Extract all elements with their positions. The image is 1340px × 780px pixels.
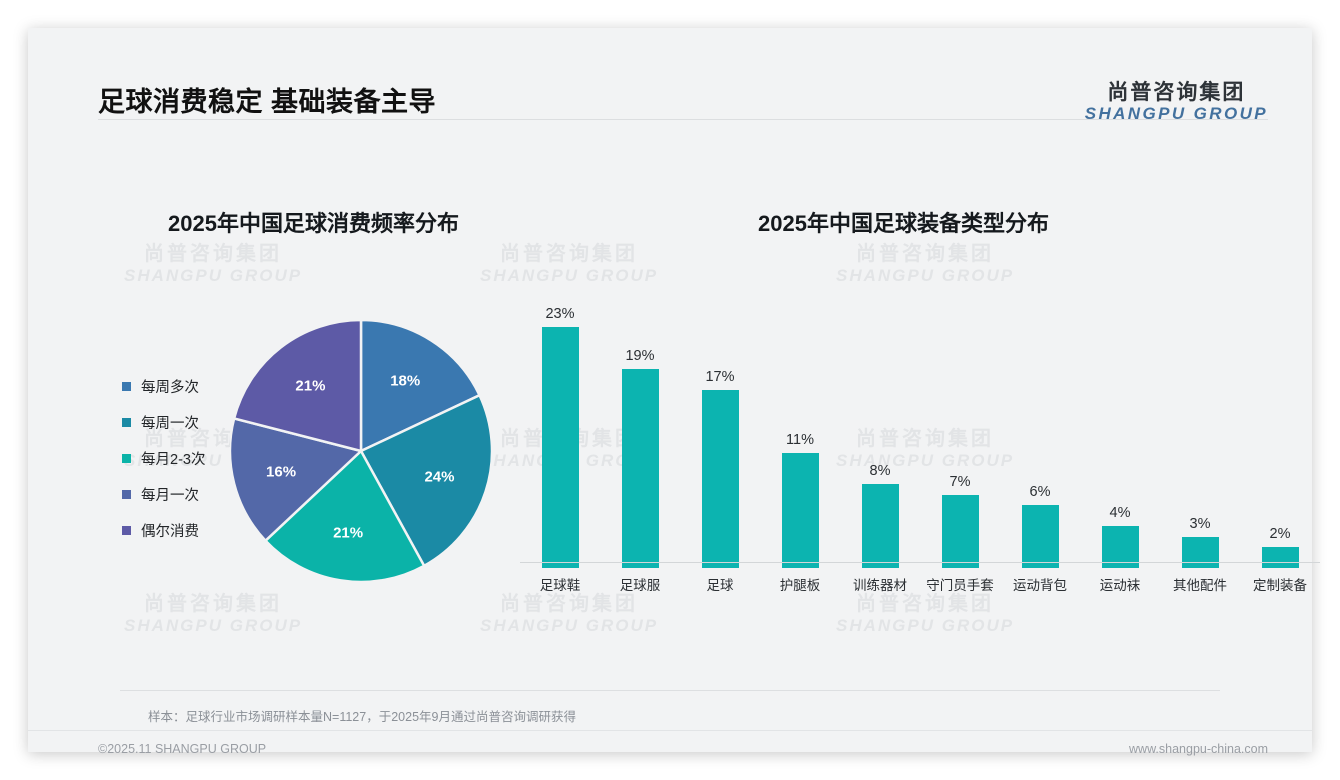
slide-header: 足球消费稳定 基础装备主导 尚普咨询集团 SHANGPU GROUP — [28, 28, 1312, 120]
legend-swatch-icon — [122, 418, 131, 427]
bar-rect[interactable] — [942, 495, 979, 568]
bar-value-label: 8% — [870, 463, 891, 479]
bar-value-label: 23% — [545, 306, 574, 322]
website-link[interactable]: www.shangpu-china.com — [1129, 742, 1268, 756]
watermark-cn: 尚普咨询集团 — [480, 593, 658, 616]
bar-value-label: 4% — [1110, 505, 1131, 521]
bar-column[interactable]: 8% — [840, 278, 920, 568]
slide-canvas: 尚普咨询集团 SHANGPU GROUP 尚普咨询集团 SHANGPU GROU… — [28, 28, 1312, 752]
bar-category-label: 足球 — [680, 574, 760, 594]
bar-column[interactable]: 4% — [1080, 278, 1160, 568]
copyright-text: ©2025.11 SHANGPU GROUP — [98, 742, 266, 756]
pie-slice-label: 21% — [295, 377, 325, 394]
bar-column[interactable]: 3% — [1160, 278, 1240, 568]
watermark-cn: 尚普咨询集团 — [836, 243, 1014, 266]
legend-item[interactable]: 偶尔消费 — [122, 512, 205, 548]
pie-slice-label: 18% — [390, 373, 420, 390]
legend-item[interactable]: 每月一次 — [122, 476, 205, 512]
watermark: 尚普咨询集团 SHANGPU GROUP — [124, 243, 302, 286]
header-divider — [98, 119, 1268, 120]
watermark-en: SHANGPU GROUP — [124, 266, 302, 286]
bar-column[interactable]: 6% — [1000, 278, 1080, 568]
bar-column[interactable]: 17% — [680, 278, 760, 568]
bar-rect[interactable] — [782, 453, 819, 568]
pie-chart-svg — [230, 320, 492, 582]
watermark-cn: 尚普咨询集团 — [480, 243, 658, 266]
legend-item[interactable]: 每月2-3次 — [122, 440, 205, 476]
watermark-en: SHANGPU GROUP — [124, 616, 302, 636]
pie-slice-label: 16% — [266, 463, 296, 480]
brand-name-cn: 尚普咨询集团 — [1085, 82, 1268, 104]
bar-value-label: 11% — [786, 432, 814, 448]
bar-value-label: 2% — [1270, 526, 1291, 542]
bar-rect[interactable] — [542, 327, 579, 568]
pie-chart-title: 2025年中国足球消费频率分布 — [168, 206, 459, 238]
watermark-cn: 尚普咨询集团 — [124, 593, 302, 616]
legend-label: 每月一次 — [141, 484, 199, 505]
bar-category-label: 其他配件 — [1160, 574, 1240, 594]
watermark-en: SHANGPU GROUP — [480, 616, 658, 636]
bar-chart-title: 2025年中国足球装备类型分布 — [758, 206, 1049, 238]
bar-value-label: 7% — [950, 474, 971, 490]
watermark-cn: 尚普咨询集团 — [124, 243, 302, 266]
legend-label: 偶尔消费 — [141, 520, 199, 541]
bar-rect[interactable] — [702, 390, 739, 568]
bar-rect[interactable] — [1182, 537, 1219, 568]
bar-value-label: 3% — [1190, 516, 1211, 532]
bar-category-label: 训练器材 — [840, 574, 920, 594]
pie-legend: 每周多次每周一次每月2-3次每月一次偶尔消费 — [122, 368, 205, 548]
legend-item[interactable]: 每周多次 — [122, 368, 205, 404]
bar-rect[interactable] — [622, 369, 659, 568]
footnote-divider — [120, 690, 1220, 691]
legend-item[interactable]: 每周一次 — [122, 404, 205, 440]
bar-rect[interactable] — [1022, 505, 1059, 568]
watermark: 尚普咨询集团 SHANGPU GROUP — [836, 593, 1014, 636]
watermark: 尚普咨询集团 SHANGPU GROUP — [124, 593, 302, 636]
bar-category-label: 足球服 — [600, 574, 680, 594]
bar-category-label: 护腿板 — [760, 574, 840, 594]
bar-category-label: 守门员手套 — [920, 574, 1000, 594]
bar-column[interactable]: 19% — [600, 278, 680, 568]
footer-divider — [28, 730, 1312, 731]
bar-category-label: 运动背包 — [1000, 574, 1080, 594]
legend-swatch-icon — [122, 454, 131, 463]
bar-column[interactable]: 2% — [1240, 278, 1320, 568]
page-title: 足球消费稳定 基础装备主导 — [98, 80, 436, 119]
watermark: 尚普咨询集团 SHANGPU GROUP — [480, 593, 658, 636]
watermark-en: SHANGPU GROUP — [836, 616, 1014, 636]
bar-category-label: 运动袜 — [1080, 574, 1160, 594]
bar-value-label: 6% — [1030, 484, 1051, 500]
bar-category-label: 定制装备 — [1240, 574, 1320, 594]
bar-value-label: 17% — [705, 369, 734, 385]
bar-chart-axis-line — [520, 562, 1320, 563]
legend-label: 每周一次 — [141, 412, 199, 433]
bar-rect[interactable] — [862, 484, 899, 568]
pie-chart: 18%24%21%16%21% — [230, 320, 492, 582]
pie-slice-label: 21% — [333, 524, 363, 541]
pie-slice-label: 24% — [424, 468, 454, 485]
legend-swatch-icon — [122, 382, 131, 391]
bar-chart: 23%19%17%11%8%7%6%4%3%2% — [520, 278, 1320, 568]
legend-label: 每周多次 — [141, 376, 199, 397]
watermark-cn: 尚普咨询集团 — [836, 593, 1014, 616]
brand-logo: 尚普咨询集团 SHANGPU GROUP — [1085, 82, 1268, 123]
bar-category-label: 足球鞋 — [520, 574, 600, 594]
bar-value-label: 19% — [625, 348, 654, 364]
bar-column[interactable]: 23% — [520, 278, 600, 568]
legend-label: 每月2-3次 — [141, 448, 205, 469]
bar-rect[interactable] — [1262, 547, 1299, 568]
footnote-text: 样本：足球行业市场调研样本量N=1127，于2025年9月通过尚普咨询调研获得 — [148, 706, 576, 725]
brand-name-en: SHANGPU GROUP — [1085, 105, 1268, 123]
legend-swatch-icon — [122, 526, 131, 535]
legend-swatch-icon — [122, 490, 131, 499]
bar-column[interactable]: 7% — [920, 278, 1000, 568]
bar-column[interactable]: 11% — [760, 278, 840, 568]
